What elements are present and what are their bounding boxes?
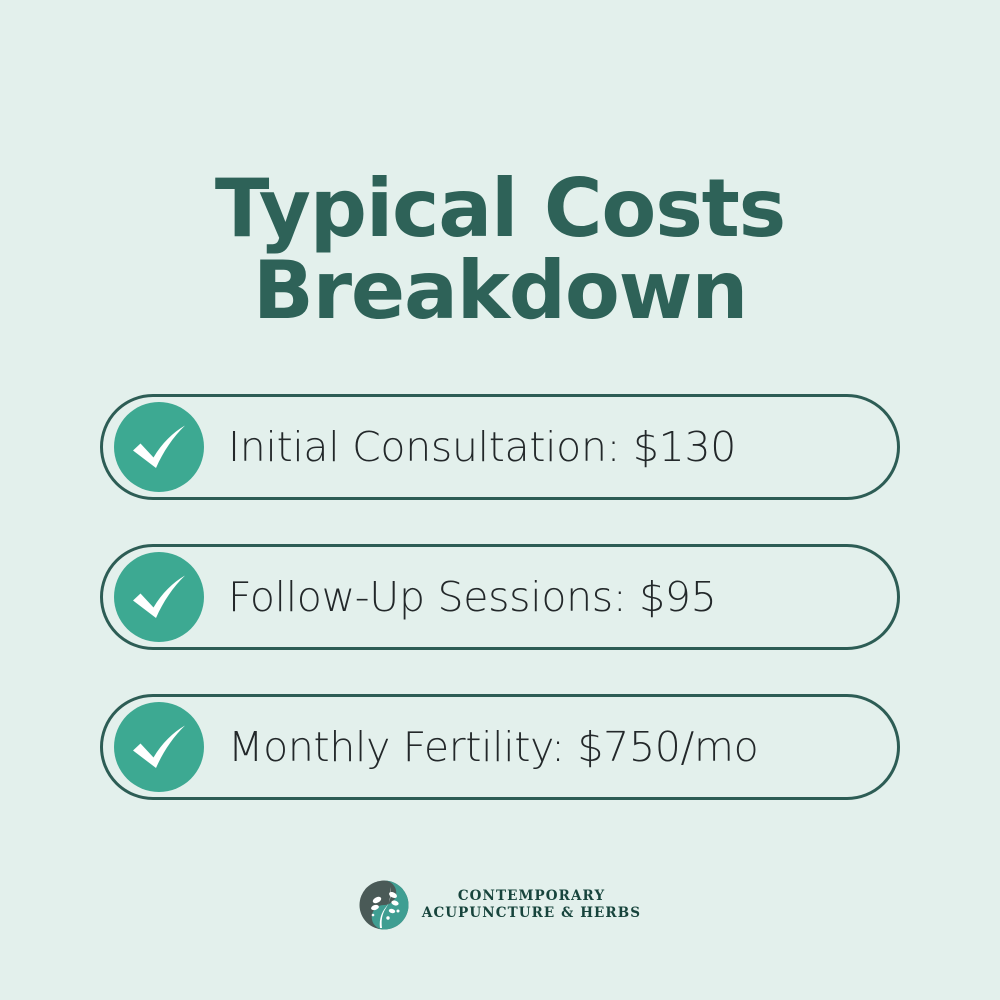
list-item: Follow-Up Sessions: $95 — [100, 544, 900, 650]
brand-wordmark: CONTEMPORARY ACUPUNCTURE & HERBS — [422, 888, 641, 923]
page-title: Typical Costs Breakdown — [0, 168, 1000, 331]
brand-line-2: ACUPUNCTURE & HERBS — [422, 905, 641, 922]
list-item: Monthly Fertility: $750/mo — [100, 694, 900, 800]
check-circle-icon — [113, 701, 205, 793]
list-item-label: Initial Consultation: $130 — [228, 423, 736, 471]
title-line-2: Breakdown — [0, 250, 1000, 332]
brand-line-1: CONTEMPORARY — [458, 888, 605, 905]
yin-yang-leaf-logo-icon — [359, 880, 409, 930]
check-circle-icon — [113, 401, 205, 493]
list-item-label: Monthly Fertility: $750/mo — [228, 723, 758, 771]
list-item-label: Follow-Up Sessions: $95 — [228, 573, 716, 621]
list-item: Initial Consultation: $130 — [100, 394, 900, 500]
check-circle-icon — [113, 551, 205, 643]
infographic-card: Typical Costs Breakdown Initial Consulta… — [0, 0, 1000, 1000]
brand-footer: CONTEMPORARY ACUPUNCTURE & HERBS — [0, 880, 1000, 930]
title-line-1: Typical Costs — [0, 168, 1000, 250]
cost-list: Initial Consultation: $130 Follow-Up Ses… — [100, 394, 900, 800]
